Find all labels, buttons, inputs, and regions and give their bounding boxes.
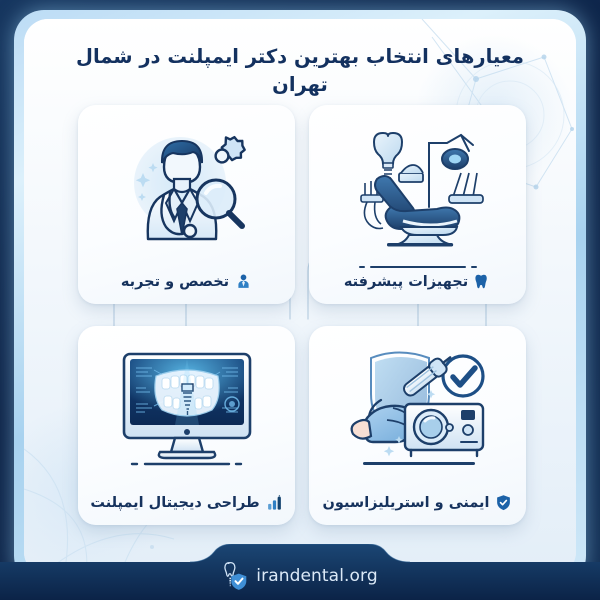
shield-check-icon — [495, 494, 512, 511]
bar-chart-icon — [266, 494, 283, 511]
tooth-icon — [474, 273, 491, 290]
title-container: معیارهای انتخاب بهترین دکتر ایمپلنت در ش… — [24, 43, 576, 100]
tooth-implant-shield-icon — [222, 561, 248, 591]
monitor-jaw-scan-illustration — [112, 342, 262, 472]
card-label-text: ایمنی و استریلیزاسیون — [323, 495, 490, 511]
card-label-equipment: تجهیزات پیشرفته — [344, 273, 491, 294]
page-title: معیارهای انتخاب بهترین دکتر ایمپلنت در ش… — [50, 43, 550, 100]
criteria-card-grid: تجهیزات پیشرفته — [78, 105, 526, 525]
card-label-text: تجهیزات پیشرفته — [344, 274, 468, 290]
criteria-card-safety[interactable]: ایمنی و استریلیزاسیون — [309, 326, 526, 525]
footer-brand[interactable]: irandental.org — [222, 561, 377, 591]
doctor-gear-magnifier-illustration — [112, 121, 262, 251]
card-baseline — [359, 253, 477, 255]
card-label-text: تخصص و تجربه — [121, 274, 229, 290]
poster-inner-panel: معیارهای انتخاب بهترین دکتر ایمپلنت در ش… — [24, 19, 576, 576]
brand-text: irandental.org — [256, 566, 377, 586]
card-label-text: طراحی دیجیتال ایمپلنت — [90, 495, 259, 511]
criteria-card-expertise[interactable]: تخصص و تجربه — [78, 105, 295, 304]
card-label-digital-design: طراحی دیجیتال ایمپلنت — [90, 494, 282, 515]
card-label-expertise: تخصص و تجربه — [121, 273, 252, 294]
dental-chair-implant-illustration — [343, 121, 493, 251]
criteria-card-equipment[interactable]: تجهیزات پیشرفته — [309, 105, 526, 304]
criteria-card-digital-design[interactable]: طراحی دیجیتال ایمپلنت — [78, 326, 295, 525]
gloved-hand-autoclave-illustration — [343, 342, 493, 472]
card-baseline — [128, 253, 246, 255]
infographic-poster: معیارهای انتخاب بهترین دکتر ایمپلنت در ش… — [0, 0, 600, 600]
card-label-safety: ایمنی و استریلیزاسیون — [323, 494, 513, 515]
user-tie-icon — [235, 273, 252, 290]
